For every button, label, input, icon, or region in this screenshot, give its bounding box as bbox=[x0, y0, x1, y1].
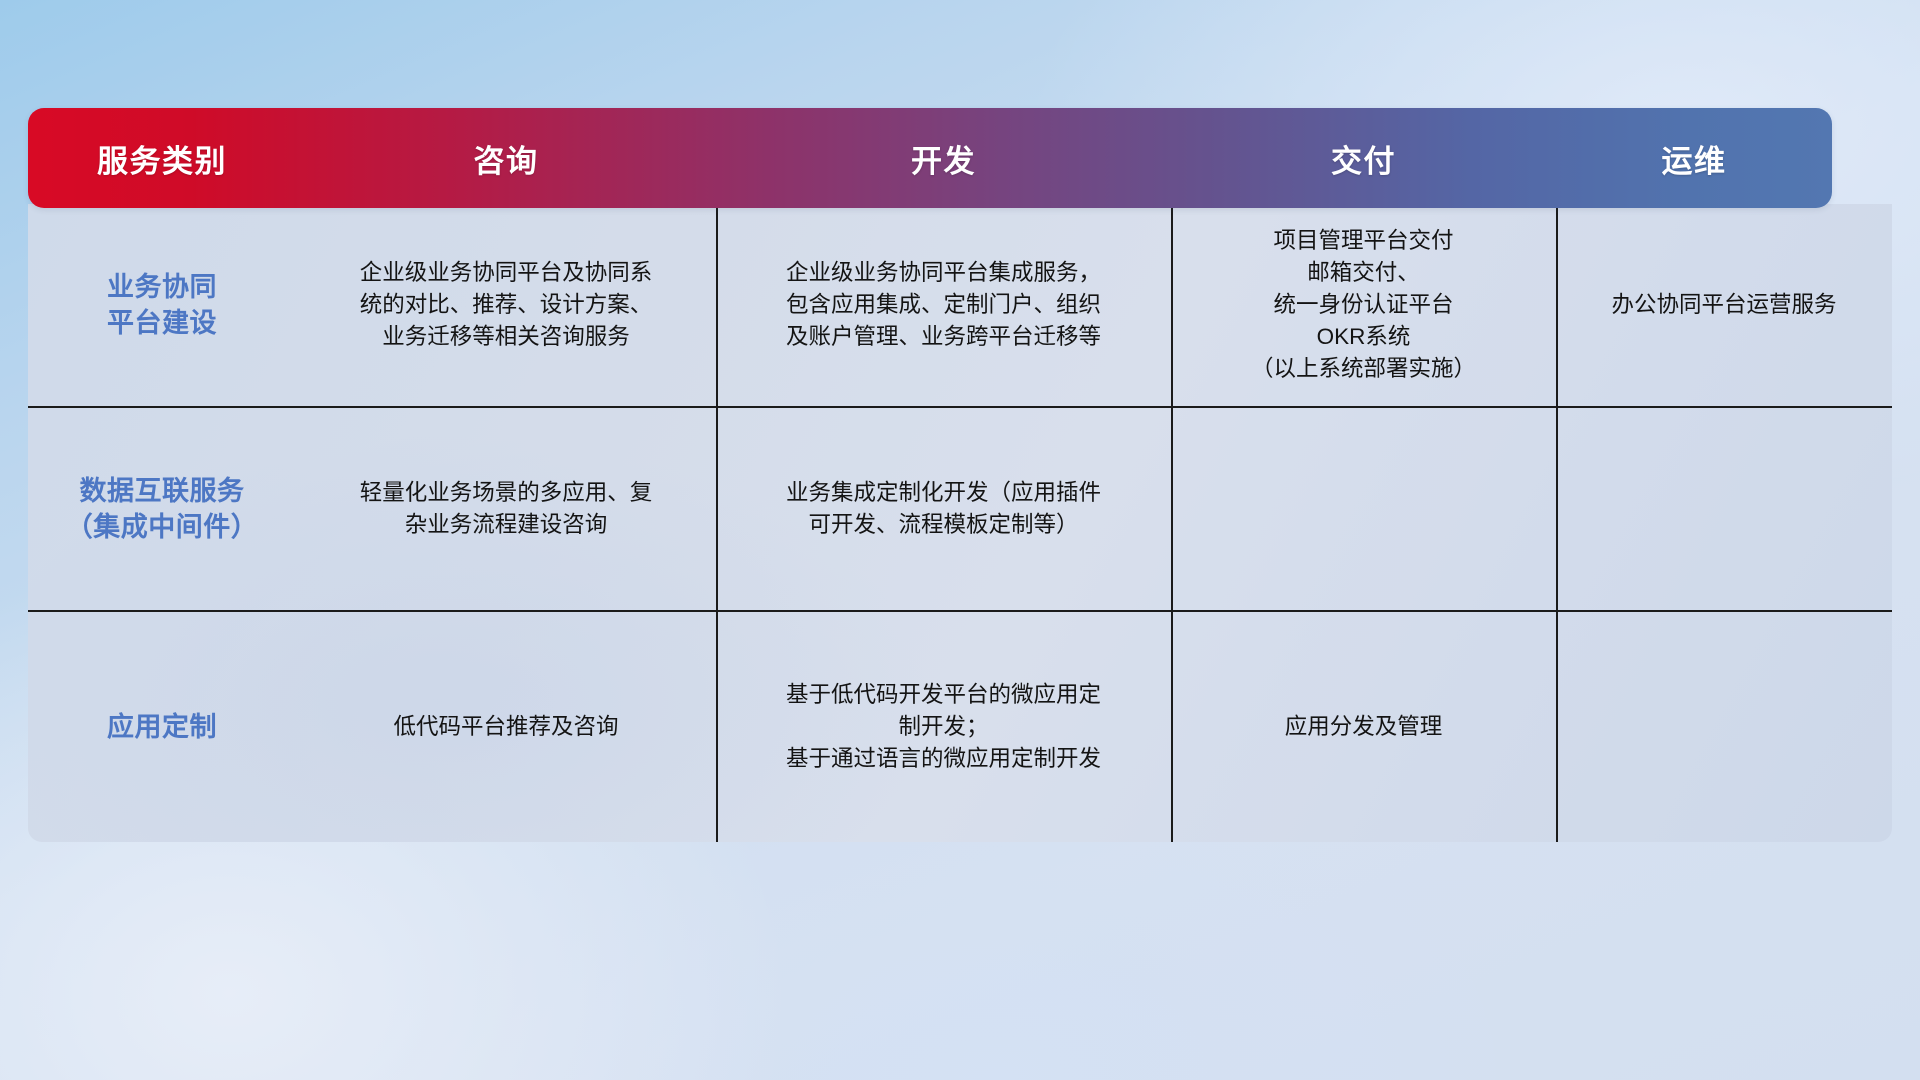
cell-delivery-row0: 项目管理平台交付 邮箱交付、 统一身份认证平台 OKR系统 （以上系统部署实施） bbox=[1171, 204, 1556, 406]
cell-operations-row0: 办公协同平台运营服务 bbox=[1556, 204, 1892, 406]
cell-delivery-row2: 应用分发及管理 bbox=[1171, 612, 1556, 842]
service-matrix-table: 服务类别 咨询 开发 交付 运维 业务协同 平台建设 企业级业务协同平台及协同系… bbox=[28, 108, 1892, 842]
cell-development-row0: 企业级业务协同平台集成服务， 包含应用集成、定制门户、组织 及账户管理、业务跨平… bbox=[716, 204, 1171, 406]
table-row: 数据互联服务 （集成中间件） 轻量化业务场景的多应用、复 杂业务流程建设咨询 业… bbox=[28, 408, 1892, 612]
cell-operations-row1 bbox=[1556, 408, 1892, 610]
slide-canvas: 服务类别 咨询 开发 交付 运维 业务协同 平台建设 企业级业务协同平台及协同系… bbox=[0, 0, 1920, 1080]
table-row: 业务协同 平台建设 企业级业务协同平台及协同系 统的对比、推荐、设计方案、 业务… bbox=[28, 204, 1892, 408]
row-label-application-customization: 应用定制 bbox=[28, 612, 296, 842]
row-label-data-interconnect: 数据互联服务 （集成中间件） bbox=[28, 408, 296, 610]
table-row: 应用定制 低代码平台推荐及咨询 基于低代码开发平台的微应用定 制开发； 基于通过… bbox=[28, 612, 1892, 842]
cell-operations-row2 bbox=[1556, 612, 1892, 842]
column-header-operations: 运维 bbox=[1556, 136, 1832, 181]
cell-development-row2: 基于低代码开发平台的微应用定 制开发； 基于通过语言的微应用定制开发 bbox=[716, 612, 1171, 842]
column-header-consulting: 咨询 bbox=[296, 136, 716, 181]
cell-consulting-row0: 企业级业务协同平台及协同系 统的对比、推荐、设计方案、 业务迁移等相关咨询服务 bbox=[296, 204, 716, 406]
column-divider-development bbox=[1171, 204, 1173, 842]
table-header-row: 服务类别 咨询 开发 交付 运维 bbox=[28, 108, 1832, 208]
cell-development-row1: 业务集成定制化开发（应用插件 可开发、流程模板定制等） bbox=[716, 408, 1171, 610]
cell-consulting-row1: 轻量化业务场景的多应用、复 杂业务流程建设咨询 bbox=[296, 408, 716, 610]
cell-delivery-row1 bbox=[1171, 408, 1556, 610]
column-header-development: 开发 bbox=[716, 136, 1171, 181]
row-label-business-collaboration: 业务协同 平台建设 bbox=[28, 204, 296, 406]
column-divider-consulting bbox=[716, 204, 718, 842]
cell-consulting-row2: 低代码平台推荐及咨询 bbox=[296, 612, 716, 842]
column-header-delivery: 交付 bbox=[1171, 136, 1556, 181]
table-body: 业务协同 平台建设 企业级业务协同平台及协同系 统的对比、推荐、设计方案、 业务… bbox=[28, 204, 1892, 842]
column-divider-delivery bbox=[1556, 204, 1558, 842]
column-header-category: 服务类别 bbox=[28, 136, 296, 181]
